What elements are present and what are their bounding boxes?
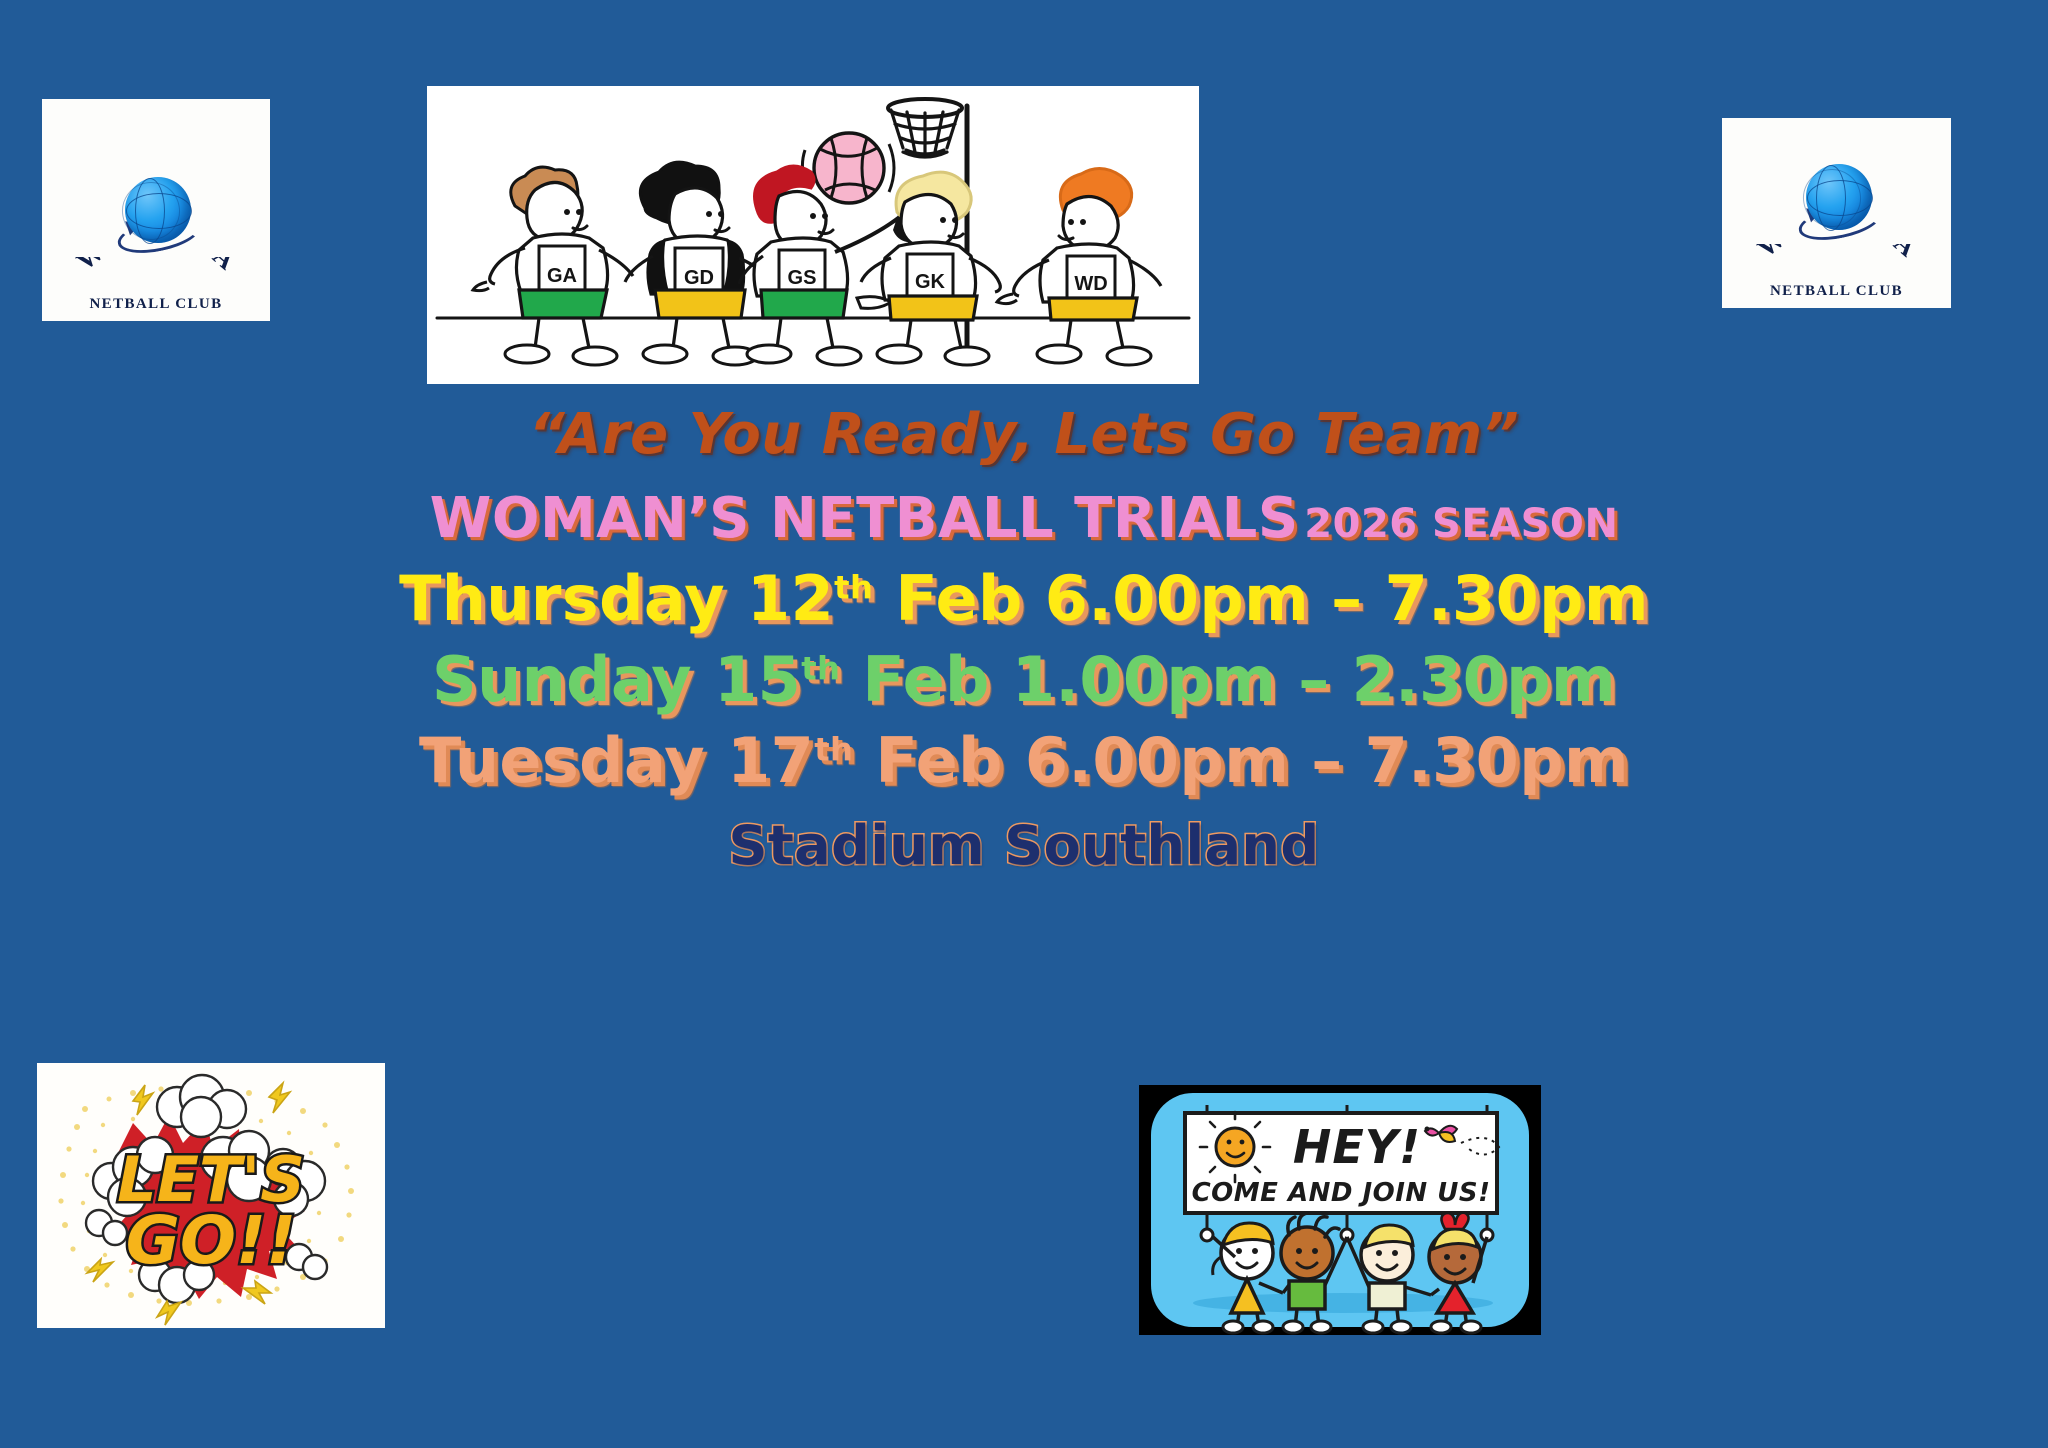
session-month: Feb <box>875 724 1002 797</box>
logo-content: WAIMATUA NETBALL CLUB <box>1722 164 1951 300</box>
session-start-time: 6.00pm <box>1045 562 1309 635</box>
netball-scene-svg: GA GD <box>427 86 1199 384</box>
poster-headline: WOMAN’S NETBALL TRIALS 2026 SEASON <box>0 489 2048 549</box>
club-logo-left: WAIMATUA NETBALL CLUB <box>42 99 270 321</box>
session-start-time: 1.00pm <box>1012 643 1276 716</box>
logo-content: WAIMATUA NETBALL CLUB <box>42 177 270 313</box>
svg-text:GA: GA <box>547 265 577 287</box>
poster-tagline: “Are You Ready, Lets Go Team” <box>0 405 2048 465</box>
session-separator: – <box>1331 562 1362 635</box>
session-month: Feb <box>895 562 1022 635</box>
poster-canvas: WAIMATUA NETBALL CLUB WAIMATUA NE <box>0 0 2048 1448</box>
session-separator: – <box>1311 724 1342 797</box>
club-subtitle: NETBALL CLUB <box>89 296 222 313</box>
session-line-sunday: Sunday 15th Feb 1.00pm – 2.30pm <box>0 647 2048 714</box>
join-us-line2: COME AND JOIN US! <box>1192 1178 1491 1208</box>
join-us-line1: HEY! <box>1293 1120 1421 1174</box>
svg-text:WD: WD <box>1074 273 1107 295</box>
venue-name: Stadium Southland <box>0 817 2048 875</box>
session-end-time: 7.30pm <box>1365 724 1629 797</box>
lets-go-graphic: LET'S GO!! <box>37 1063 385 1328</box>
session-day: Thursday <box>399 562 725 635</box>
session-date-suffix: th <box>814 730 853 768</box>
session-date-suffix: th <box>801 649 840 687</box>
club-logo-right: WAIMATUA NETBALL CLUB <box>1722 118 1951 308</box>
lets-go-line2: GO!! <box>126 1202 296 1279</box>
session-separator: – <box>1298 643 1329 716</box>
netball-ball-icon <box>117 177 195 255</box>
session-date-number: 17 <box>727 724 814 797</box>
session-day: Tuesday <box>419 724 705 797</box>
svg-text:GD: GD <box>684 267 714 289</box>
poster-text-block: “Are You Ready, Lets Go Team” WOMAN’S NE… <box>0 405 2048 875</box>
svg-text:WAIMATUA: WAIMATUA <box>1752 244 1922 263</box>
session-start-time: 6.00pm <box>1025 724 1289 797</box>
session-date-number: 12 <box>747 562 834 635</box>
headline-season: 2026 SEASON <box>1304 501 1618 547</box>
session-end-time: 7.30pm <box>1385 562 1649 635</box>
svg-text:GS: GS <box>788 267 817 289</box>
netball-ball-icon <box>1798 164 1876 242</box>
lets-go-svg: LET'S GO!! <box>37 1063 385 1328</box>
join-us-graphic: HEY! COME AND JOIN US! <box>1139 1085 1541 1335</box>
session-line-tuesday: Tuesday 17th Feb 6.00pm – 7.30pm <box>0 728 2048 795</box>
session-line-thursday: Thursday 12th Feb 6.00pm – 7.30pm <box>0 566 2048 633</box>
session-date-suffix: th <box>834 568 873 606</box>
club-subtitle: NETBALL CLUB <box>1770 283 1903 300</box>
club-name-arc: WAIMATUA <box>61 257 251 297</box>
netball-players-illustration: GA GD <box>427 86 1199 384</box>
session-date-number: 15 <box>714 643 801 716</box>
session-end-time: 2.30pm <box>1352 643 1616 716</box>
svg-text:WAIMATUA: WAIMATUA <box>71 257 241 276</box>
join-us-svg: HEY! COME AND JOIN US! <box>1139 1085 1541 1335</box>
svg-text:GK: GK <box>915 271 946 293</box>
session-day: Sunday <box>432 643 692 716</box>
headline-main: WOMAN’S NETBALL TRIALS <box>430 486 1299 551</box>
session-month: Feb <box>862 643 989 716</box>
club-name-arc: WAIMATUA <box>1742 244 1932 284</box>
